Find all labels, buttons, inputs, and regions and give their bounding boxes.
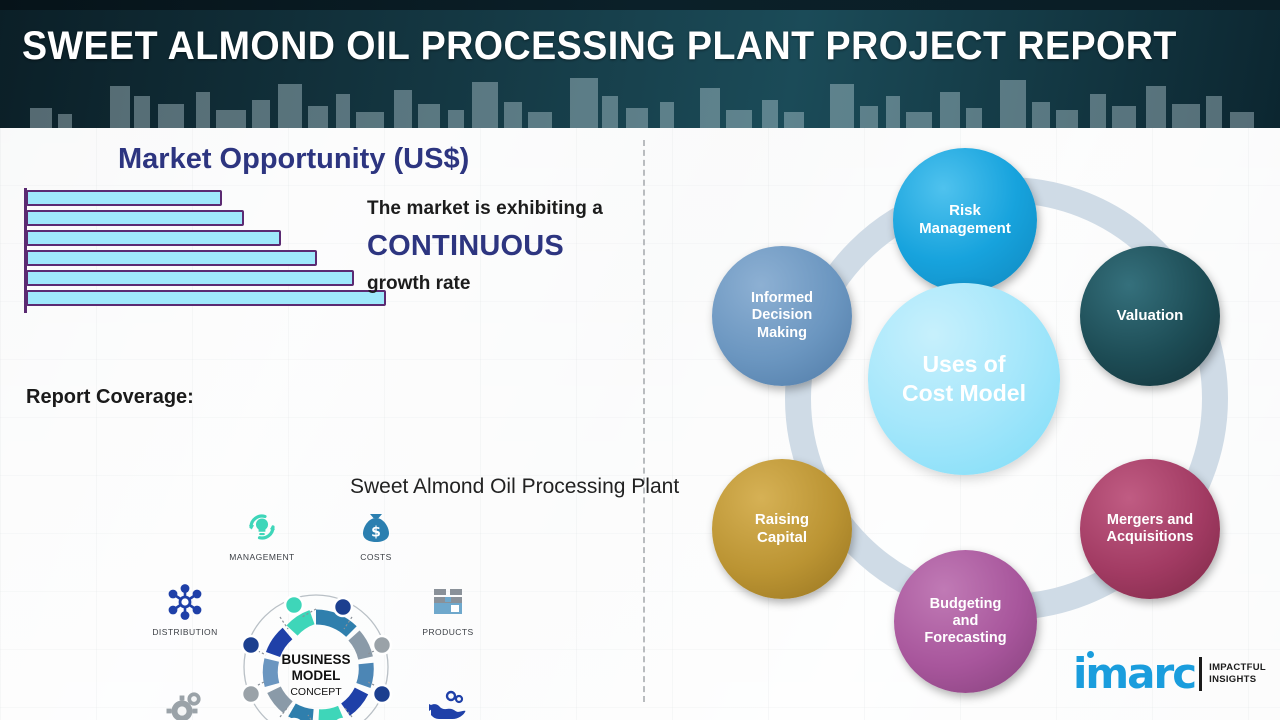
node-label-line1: Informed [751,290,813,306]
market-opportunity-bar-chart [24,188,384,313]
logo-wordmark: imarc [1073,655,1195,694]
logo-tagline: IMPACTFUL INSIGHTS [1209,662,1266,686]
node-raising-capital[interactable]: Raising Capital [712,459,852,599]
coverage-item-management: MANAGEMENT [214,504,310,562]
coverage-item-revenue: REVENUE [400,684,496,720]
pitch-highlight: CONTINUOUS [367,230,647,263]
center-line1: Uses of [922,351,1005,377]
package-box-icon [400,579,496,625]
node-label-line1: Budgeting [930,596,1002,612]
donut-line-2: MODEL [292,668,341,683]
node-label-line1: Risk [949,202,981,219]
node-label-line3: Forecasting [924,630,1006,646]
node-label-line2: Acquisitions [1106,529,1193,545]
node-label-line2: and [953,613,979,629]
logo-tagline-line1: IMPACTFUL [1209,662,1266,674]
pitch-line-3: growth rate [367,273,647,295]
coverage-label: MANAGEMENT [214,552,310,562]
node-budgeting-forecasting[interactable]: Budgeting and Forecasting [894,550,1037,693]
node-label-line2: Decision [752,307,812,323]
page-title: SWEET ALMOND OIL PROCESSING PLANT PROJEC… [22,24,1177,69]
node-label-line2: Capital [757,529,807,546]
node-mergers-acquisitions[interactable]: Mergers and Acquisitions [1080,459,1220,599]
node-label-line2: Management [919,220,1011,237]
center-line2: Cost Model [902,380,1026,406]
center-uses-of-cost-model: Uses of Cost Model [868,283,1060,475]
left-panel: Market Opportunity (US$) The market is e… [0,128,643,720]
skyline-graphic [0,66,1280,128]
network-hub-icon [137,579,233,625]
bar-4 [26,250,317,266]
pitch-line-1: The market is exhibiting a [367,198,647,220]
node-risk-management[interactable]: Risk Management [893,148,1037,292]
right-panel: Risk Management Valuation Mergers and Ac… [643,128,1280,720]
node-label-line3: Making [757,325,807,341]
market-opportunity-title: Market Opportunity (US$) [118,143,469,176]
coverage-item-products: PRODUCTS [400,579,496,637]
node-informed-decision-making[interactable]: Informed Decision Making [712,246,852,386]
imarc-logo: imarc IMPACTFUL INSIGHTS [1073,655,1266,694]
header-banner: SWEET ALMOND OIL PROCESSING PLANT PROJEC… [0,0,1280,128]
growth-pitch: The market is exhibiting a CONTINUOUS gr… [367,198,647,295]
coverage-item-distribution: DISTRIBUTION [137,579,233,637]
coverage-label: DISTRIBUTION [137,627,233,637]
bar-1 [26,190,222,206]
logo-dot-icon [1087,651,1094,658]
bar-2 [26,210,244,226]
gears-icon [137,684,233,720]
hand-coins-icon [400,684,496,720]
coverage-label: COSTS [328,552,424,562]
node-valuation[interactable]: Valuation [1080,246,1220,386]
bar-6 [26,290,386,306]
bar-3 [26,230,281,246]
svg-text:$: $ [371,525,381,541]
coverage-item-costs: $ COSTS [328,504,424,562]
donut-line-3: CONCEPT [290,686,342,698]
lightbulb-recycle-icon [214,504,310,550]
node-label-line1: Valuation [1117,307,1184,324]
coverage-label: PRODUCTS [400,627,496,637]
logo-divider [1199,657,1202,691]
money-bag-icon: $ [328,504,424,550]
node-label-line1: Raising [755,511,809,528]
logo-tagline-line2: INSIGHTS [1209,674,1266,686]
node-label-line1: Mergers and [1107,512,1193,528]
coverage-item-services: SERVICES [137,684,233,720]
header-top-strip [0,0,1280,10]
donut-line-1: BUSINESS [281,652,350,667]
business-model-donut: BUSINESS MODEL CONCEPT [232,581,400,720]
bar-5 [26,270,354,286]
